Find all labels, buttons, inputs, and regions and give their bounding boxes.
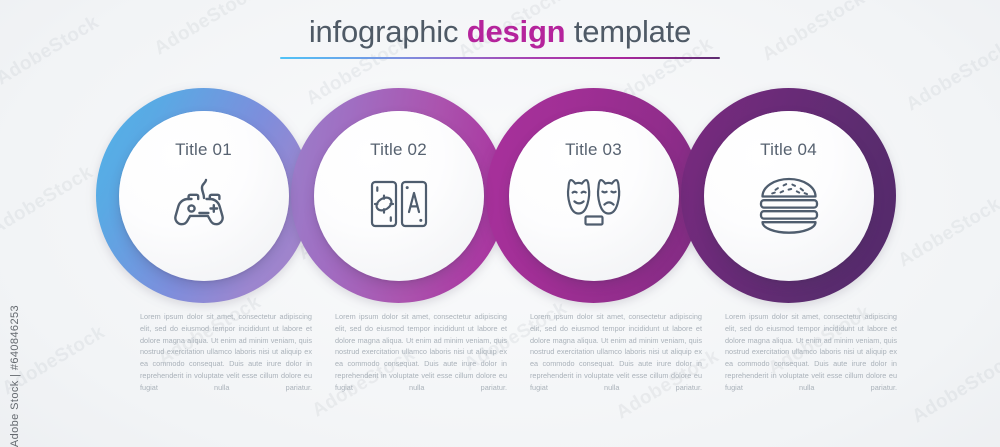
- playing-cards-icon: [366, 174, 432, 234]
- step-title-4: Title 04: [760, 140, 817, 160]
- page-title: infographic design template: [309, 14, 691, 50]
- header: infographic design template: [0, 14, 1000, 59]
- theater-masks-icon: [561, 174, 627, 234]
- step-card-1[interactable]: Title 01: [119, 111, 289, 281]
- steps-band: Title 01 Title 02: [0, 88, 1000, 303]
- page-title-part2: template: [565, 14, 691, 49]
- page-title-part1: infographic: [309, 14, 467, 49]
- title-underline-rule: [280, 57, 720, 59]
- descriptions: Lorem ipsum dolor sit amet, consectetur …: [0, 311, 1000, 431]
- step-title-1: Title 01: [175, 140, 232, 160]
- step-description-4: Lorem ipsum dolor sit amet, consectetur …: [725, 311, 897, 406]
- step-card-4[interactable]: Title 04: [704, 111, 874, 281]
- page-title-accent: design: [467, 14, 566, 49]
- step-title-2: Title 02: [370, 140, 427, 160]
- burger-icon: [756, 174, 822, 234]
- step-card-3[interactable]: Title 03: [509, 111, 679, 281]
- step-description-2: Lorem ipsum dolor sit amet, consectetur …: [335, 311, 507, 406]
- step-description-1: Lorem ipsum dolor sit amet, consectetur …: [140, 311, 312, 406]
- step-card-2[interactable]: Title 02: [314, 111, 484, 281]
- step-description-3: Lorem ipsum dolor sit amet, consectetur …: [530, 311, 702, 406]
- step-title-3: Title 03: [565, 140, 622, 160]
- gamepad-icon: [171, 174, 237, 234]
